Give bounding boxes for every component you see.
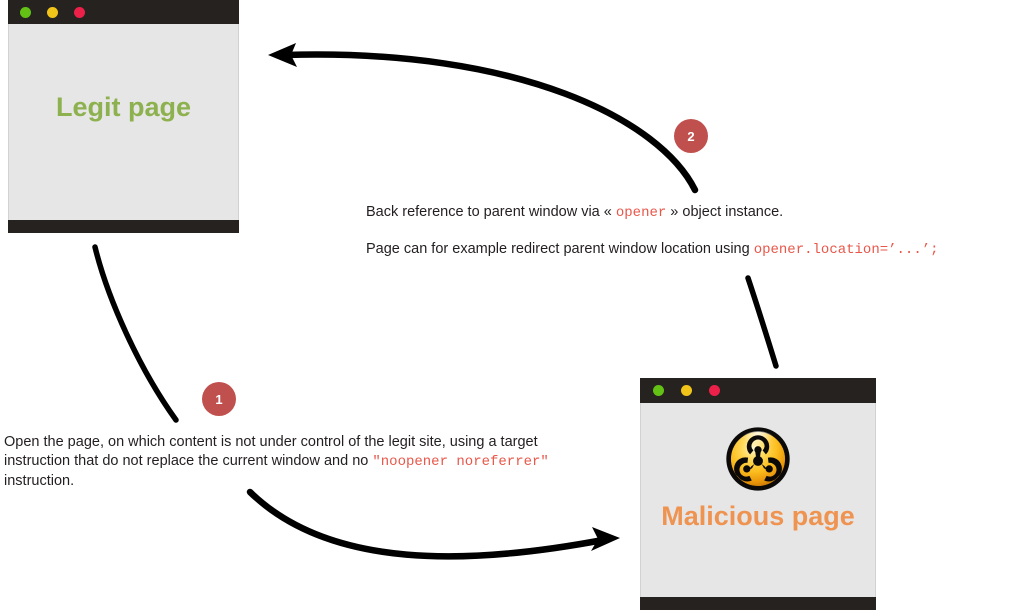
step-badge-2: 2 xyxy=(674,119,708,153)
arrow-opener-back-to-legit xyxy=(268,43,695,190)
noopener-noreferrer-code-token: "noopener noreferrer" xyxy=(372,454,548,470)
traffic-light-yellow[interactable] xyxy=(681,385,692,396)
connector-line-badge1 xyxy=(95,247,176,420)
traffic-light-green[interactable] xyxy=(20,7,31,18)
traffic-light-yellow[interactable] xyxy=(47,7,58,18)
opener-code-token: opener xyxy=(616,205,666,221)
annotation-open-page: Open the page, on which content is not u… xyxy=(4,433,604,491)
annotation-redirect: Page can for example redirect parent win… xyxy=(366,240,939,260)
legit-page-title: Legit page xyxy=(56,92,191,123)
legit-page-window[interactable]: Legit page xyxy=(8,0,239,233)
step-badge-1: 1 xyxy=(202,382,236,416)
opener-location-code-token: opener.location=’...’; xyxy=(754,242,939,258)
back-reference-text-part2: » object instance. xyxy=(666,204,783,220)
traffic-light-red[interactable] xyxy=(709,385,720,396)
malicious-window-titlebar[interactable] xyxy=(640,378,876,403)
malicious-window-body: Malicious page xyxy=(640,403,876,597)
biohazard-icon xyxy=(725,426,791,492)
legit-window-footer xyxy=(8,220,239,233)
legit-window-titlebar[interactable] xyxy=(8,0,239,24)
arrow-legit-opens-malicious xyxy=(250,492,620,556)
open-page-text-part2: instruction. xyxy=(4,473,74,489)
traffic-light-red[interactable] xyxy=(74,7,85,18)
malicious-window-footer xyxy=(640,597,876,610)
connector-line-badge2 xyxy=(748,278,776,366)
legit-window-body: Legit page xyxy=(8,24,239,220)
malicious-page-title: Malicious page xyxy=(661,501,855,532)
malicious-page-window[interactable]: Malicious page xyxy=(640,378,876,610)
traffic-light-green[interactable] xyxy=(653,385,664,396)
back-reference-text-part1: Back reference to parent window via « xyxy=(366,204,616,220)
annotation-back-reference: Back reference to parent window via « op… xyxy=(366,203,783,223)
redirect-text-part1: Page can for example redirect parent win… xyxy=(366,241,754,257)
